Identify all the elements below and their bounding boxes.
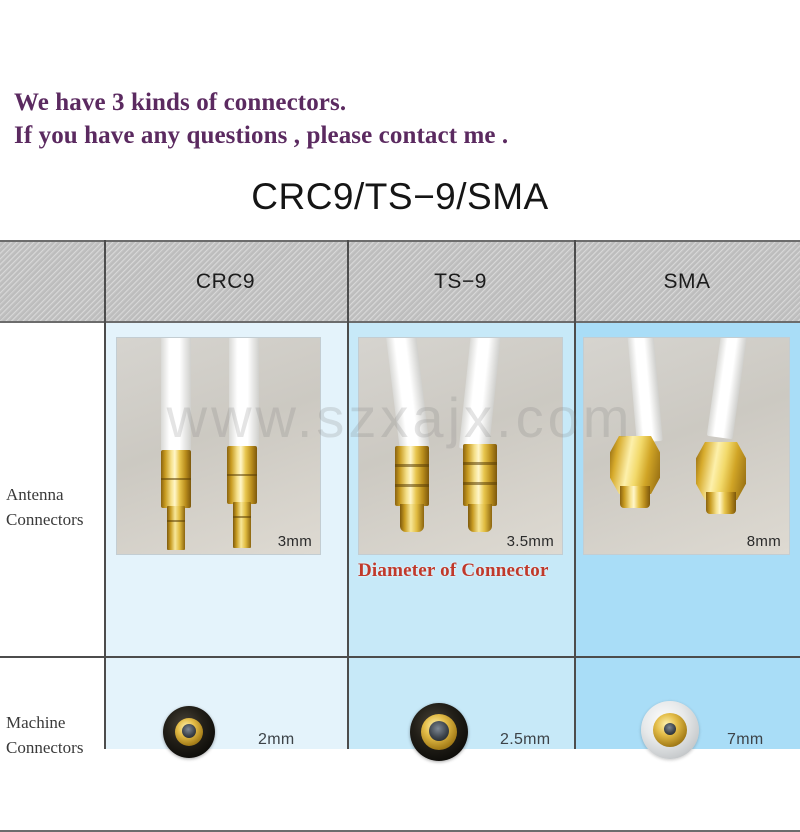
barrel-band [395,464,429,467]
barrel-band [161,478,191,480]
size-label-ts9-machine: 2.5mm [500,731,550,749]
barrel-band [463,482,497,485]
table-header-row: CRC9 TS−9 SMA [0,240,800,323]
size-label-sma-machine: 7mm [727,731,763,749]
connector-comparison-table: CRC9 TS−9 SMA 3mm [0,240,800,749]
row-label-machine-connectors: Machine Connectors [6,711,102,760]
table-header-ts9: TS−9 [347,242,574,321]
cable-sheath [161,337,191,452]
socket-center-hole [429,721,449,741]
row-label-line-1: Antenna [6,483,102,508]
socket-ts9-machine [410,703,468,761]
photo-ts9-antenna: 3.5mm [358,337,563,555]
pin-band [233,516,251,518]
ts9-tip [400,504,424,532]
row-label-line-1: Machine [6,711,102,736]
table-header-sma: SMA [574,242,800,321]
table-body: 3mm 3.5mm 8mm [0,323,800,749]
barrel-band [227,474,257,476]
row-label-line-2: Connectors [6,736,102,761]
row-label-line-2: Connectors [6,508,102,533]
column-divider-1 [104,240,106,749]
photo-sma-antenna: 8mm [583,337,790,555]
ts9-barrel [395,446,429,506]
socket-sma-machine [641,701,699,759]
intro-line-2: If you have any questions , please conta… [14,119,508,152]
pin-band [167,520,185,522]
size-label-sma-antenna: 8mm [747,533,781,550]
size-label-crc9-antenna: 3mm [278,533,312,550]
row-divider [0,656,800,658]
socket-crc9-machine [163,706,215,758]
cable-sheath [229,337,259,448]
photo-background [117,338,320,554]
sma-collar [706,492,736,514]
intro-text: We have 3 kinds of connectors. If you ha… [14,86,508,152]
sma-collar [620,486,650,508]
diameter-annotation: Diameter of Connector [358,560,549,582]
socket-center-hole [664,723,676,735]
photo-crc9-antenna: 3mm [116,337,321,555]
barrel-band [395,484,429,487]
ts9-barrel [463,444,497,506]
table-header-crc9: CRC9 [104,242,347,321]
page-title: CRC9/TS−9/SMA [0,176,800,218]
intro-line-1: We have 3 kinds of connectors. [14,86,508,119]
column-divider-2 [347,240,349,749]
column-divider-3 [574,240,576,749]
row-label-antenna-connectors: Antenna Connectors [6,483,102,532]
column-bg-labels [0,323,104,749]
ts9-tip [468,504,492,532]
crc9-pin [167,506,185,550]
size-label-crc9-machine: 2mm [258,731,294,749]
socket-center-hole [182,724,196,738]
barrel-band [463,462,497,465]
size-label-ts9-antenna: 3.5mm [507,533,554,550]
crc9-pin [233,502,251,548]
